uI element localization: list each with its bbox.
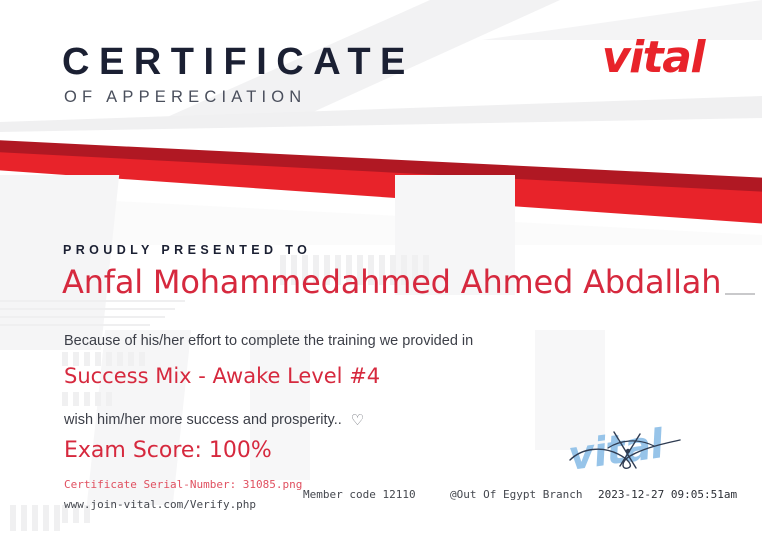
watermark-line [0, 324, 150, 326]
certificate-document: CERTIFICATE OF APPERECIATION vital PROUD… [0, 0, 762, 539]
recipient-row: Anfal Mohammedahmed Ahmed Abdallah [62, 264, 752, 301]
certificate-subtitle: OF APPERECIATION [64, 89, 306, 106]
member-code: Member code 12110 [303, 489, 416, 500]
below-band-wedge [0, 175, 762, 245]
watermark-line [0, 316, 165, 318]
certificate-title: CERTIFICATE [62, 43, 415, 81]
signature-icon [562, 418, 732, 490]
watermark-ticks [10, 505, 60, 531]
presented-to-label: PROUDLY PRESENTED TO [63, 244, 311, 257]
heart-icon: ♡ [351, 413, 364, 428]
watermark-ticks [62, 392, 112, 406]
red-band-bright [0, 146, 762, 236]
vital-logo: vital [602, 36, 704, 80]
issue-date: 2023-12-27 09:05:51am [598, 489, 737, 500]
wish-line: wish him/her more success and prosperity… [64, 412, 342, 428]
recipient-underline [725, 293, 755, 295]
exam-score: Exam Score: 100% [64, 440, 272, 462]
course-name: Success Mix - Awake Level #4 [64, 366, 380, 387]
branch-name: @Out Of Egypt Branch [450, 489, 582, 500]
certificate-serial-number: Certificate Serial-Number: 31085.png [64, 479, 302, 490]
recipient-name: Anfal Mohammedahmed Ahmed Abdallah [62, 264, 721, 301]
approval-stamp: vital [568, 418, 728, 490]
watermark-line [0, 308, 175, 310]
red-band-dark [0, 140, 762, 216]
reason-line: Because of his/her effort to complete th… [64, 334, 473, 349]
wish-line-row: wish him/her more success and prosperity… [64, 413, 364, 428]
verify-url[interactable]: www.join-vital.com/Verify.php [64, 499, 256, 510]
